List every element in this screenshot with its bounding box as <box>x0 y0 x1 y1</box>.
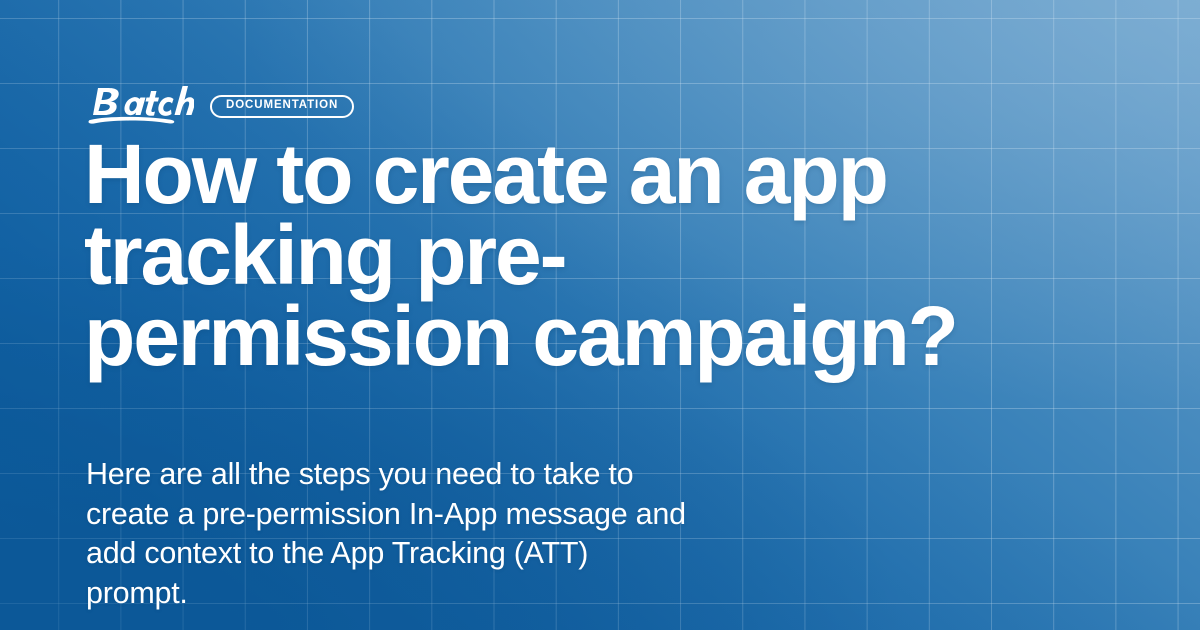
social-share-card: DOCUMENTATION How to create an app track… <box>0 0 1200 630</box>
card-header: DOCUMENTATION <box>84 85 354 127</box>
page-subtitle-line-2: create a pre-permission In-App message a… <box>86 495 906 535</box>
page-title-line-2: tracking pre- <box>84 215 1150 296</box>
documentation-badge: DOCUMENTATION <box>210 95 354 118</box>
batch-script-wordmark-icon <box>84 85 194 127</box>
page-subtitle-line-4: prompt. <box>86 574 906 614</box>
batch-logo[interactable] <box>84 85 194 127</box>
card-content: DOCUMENTATION How to create an app track… <box>84 0 1154 630</box>
page-title-line-1: How to create an app <box>84 134 1150 215</box>
page-subtitle-line-1: Here are all the steps you need to take … <box>86 455 906 495</box>
page-title-line-3: permission campaign? <box>84 296 1150 377</box>
page-title: How to create an app tracking pre- permi… <box>84 134 1150 377</box>
page-subtitle-line-3: add context to the App Tracking (ATT) <box>86 534 906 574</box>
page-subtitle: Here are all the steps you need to take … <box>86 455 906 614</box>
